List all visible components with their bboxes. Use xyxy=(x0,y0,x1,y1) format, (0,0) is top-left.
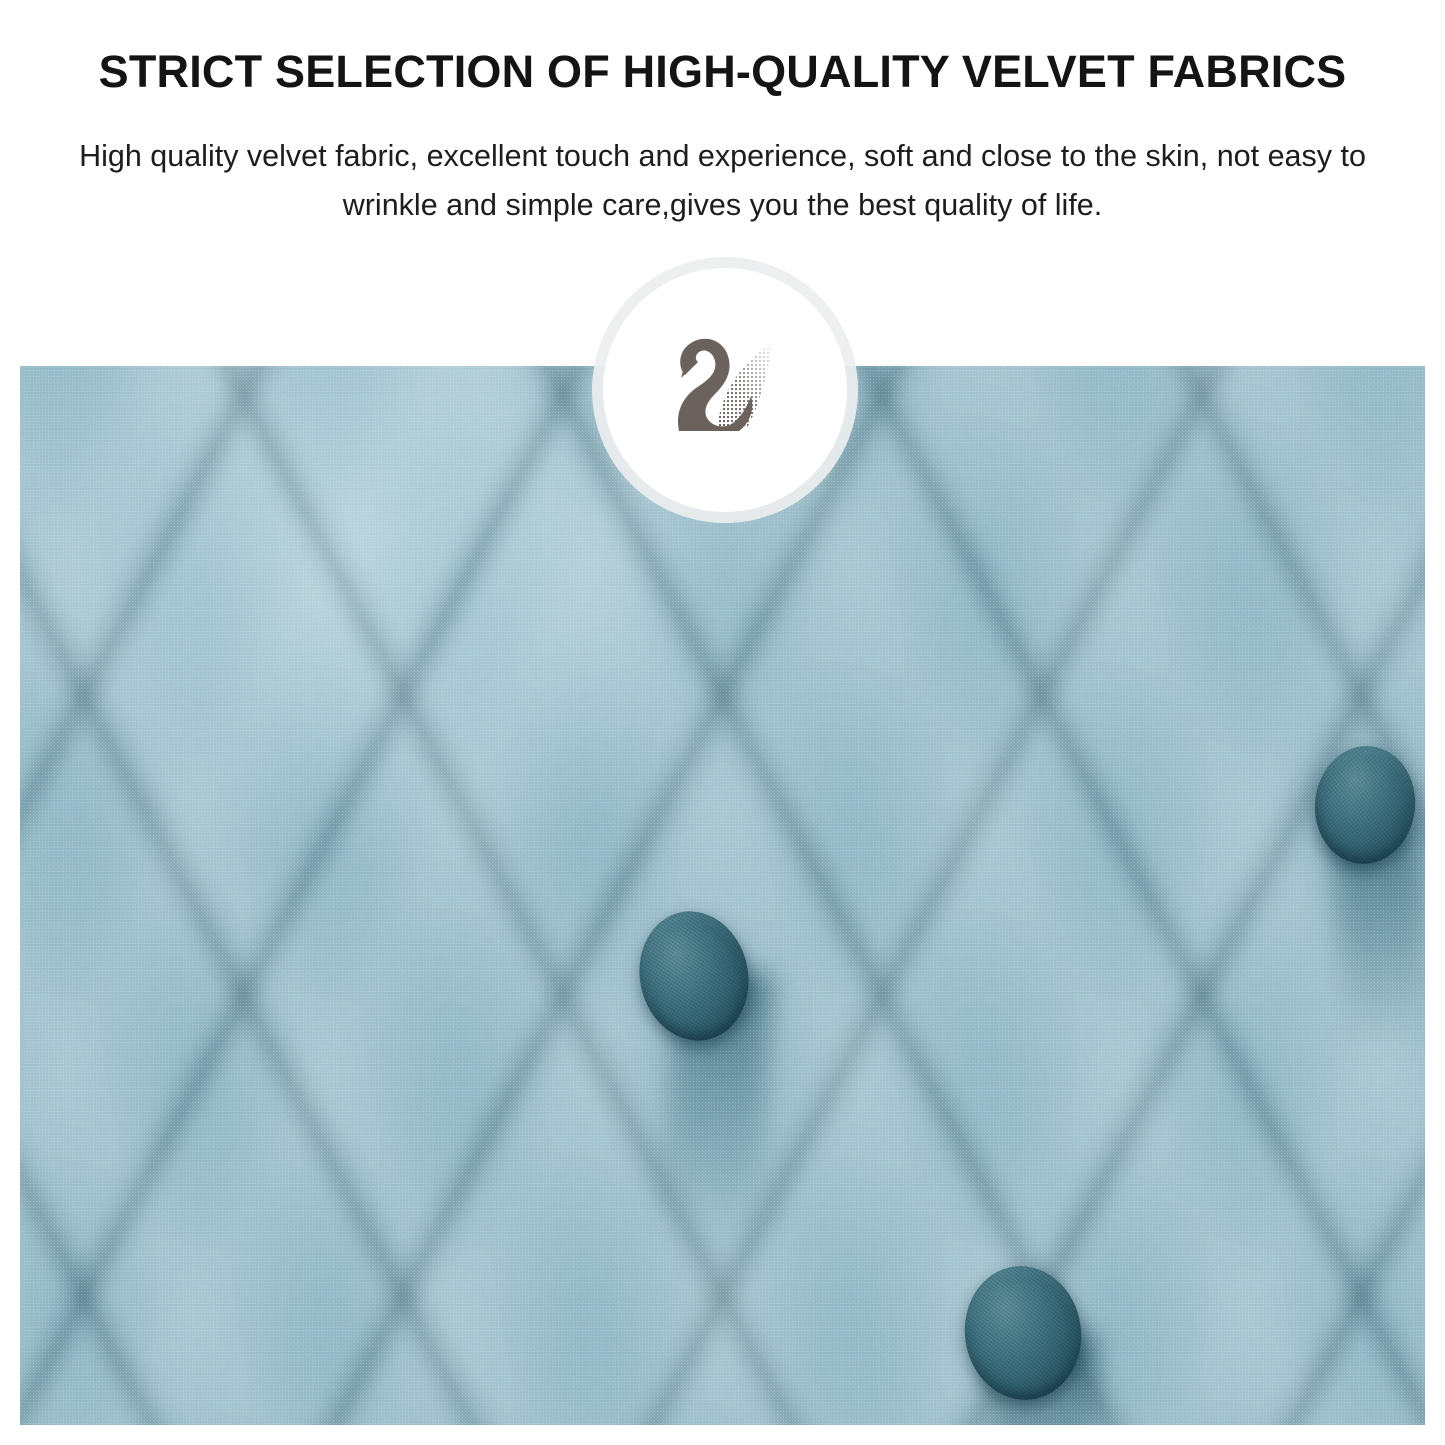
brand-logo-badge xyxy=(603,268,847,512)
brand-logo-inner-circle xyxy=(625,290,825,490)
product-photo xyxy=(20,366,1425,1425)
swan-icon xyxy=(655,328,795,452)
velvet-fabric-banner: STRICT SELECTION OF HIGH-QUALITY VELVET … xyxy=(0,0,1445,1445)
velvet-pile-texture-fine xyxy=(20,366,1425,1425)
page-title: STRICT SELECTION OF HIGH-QUALITY VELVET … xyxy=(0,46,1445,98)
swan-wing-halftone xyxy=(655,328,795,452)
page-subtitle: High quality velvet fabric, excellent to… xyxy=(58,132,1388,231)
